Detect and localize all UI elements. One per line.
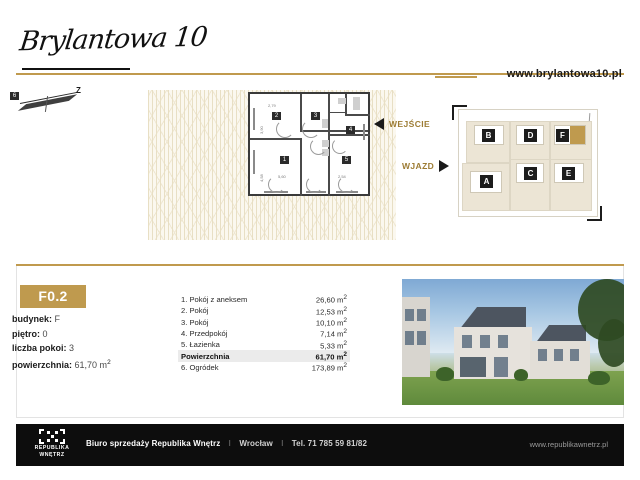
driveway-marker: WJAZD	[402, 160, 449, 172]
spec-value-powierzchnia: 61,70 m	[75, 360, 108, 370]
room-area-sup: 2	[343, 306, 347, 313]
photo-window	[480, 335, 490, 348]
room-area-sup: 2	[343, 328, 347, 335]
wall-segment	[345, 94, 347, 114]
dimension-label: 3,90	[259, 126, 264, 134]
door-swing	[306, 176, 323, 193]
table-row: 6. Ogródek 173,89 m2	[178, 362, 350, 373]
spec-value-budynek: F	[55, 314, 61, 324]
spec-key-liczba-pokoi: liczba pokoi:	[12, 343, 67, 353]
arrow-right-icon	[439, 160, 449, 172]
room-area: 7,14 m2	[320, 328, 347, 339]
total-area-sup: 2	[343, 351, 347, 358]
room-area: 10,10 m2	[316, 317, 347, 328]
room-name: 3. Pokój	[181, 318, 208, 327]
photo-shrub	[514, 369, 528, 381]
site-corner-top-left	[452, 105, 467, 120]
photo-shrub	[588, 371, 610, 385]
dimension-label: 2,54	[338, 174, 346, 179]
table-row: 4. Przedpokój 7,14 m2	[178, 328, 350, 339]
hatch-pattern-lower	[148, 190, 396, 240]
project-website[interactable]: www.brylantowa10.pl	[507, 68, 622, 80]
building-badge-a[interactable]: A	[480, 175, 493, 188]
room-schedule: 1. Pokój z aneksem 26,60 m2 2. Pokój 12,…	[178, 294, 350, 373]
spec-value-liczba-pokoi: 3	[69, 343, 74, 353]
room-name: 6. Ogródek	[181, 363, 219, 372]
sales-office-label: Biuro sprzedaży Republika Wnętrz	[86, 439, 220, 448]
dimension-label: 2,79	[268, 103, 276, 108]
spec-value-pietro: 0	[43, 329, 48, 339]
total-area: 61,70 m2	[316, 351, 348, 362]
company-website[interactable]: www.republikawnetrz.pl	[530, 440, 608, 449]
window-mark	[363, 124, 365, 140]
wall-segment	[328, 94, 330, 132]
table-row: 1. Pokój z aneksem 26,60 m2	[178, 294, 350, 305]
photo-window	[570, 349, 579, 361]
footer-contact: Biuro sprzedaży Republika Wnętrz I Wrocł…	[86, 439, 367, 448]
room-marker-4: 4	[346, 126, 355, 134]
brand-logo: Brylantowa 10	[18, 22, 209, 58]
spec-row-powierzchnia: powierzchnia: 61,70 m2	[12, 356, 111, 373]
logo-line-2: WNĘTRZ	[30, 452, 74, 459]
room-area-sup: 2	[343, 340, 347, 347]
unit-specs: budynek: F piętro: 0 liczba pokoi: 3 pow…	[12, 312, 111, 372]
room-marker-5: 5	[342, 156, 351, 164]
unit-badge: F0.2	[20, 285, 86, 308]
spec-key-pietro: piętro:	[12, 329, 40, 339]
arrow-left-icon	[374, 118, 384, 130]
logo-underline	[22, 68, 130, 70]
document-page: Brylantowa 10 www.brylantowa10.pl Z 6	[0, 0, 640, 480]
wall-segment	[250, 138, 302, 140]
photo-tree	[598, 319, 624, 367]
photo-window	[462, 335, 472, 348]
photo-window	[405, 309, 414, 321]
room-area: 26,60 m2	[316, 294, 347, 305]
total-area-value: 61,70 m	[316, 352, 344, 361]
fixture	[353, 97, 360, 110]
table-row: 5. Łazienka 5,33 m2	[178, 339, 350, 350]
phone-label[interactable]: Tel. 71 785 59 81/82	[292, 439, 367, 448]
entrance-label: WEJŚCIE	[389, 119, 430, 129]
room-name: 5. Łazienka	[181, 340, 220, 349]
room-name: 2. Pokój	[181, 306, 208, 315]
room-area: 173,89 m2	[312, 362, 347, 373]
room-marker-1: 1	[280, 156, 289, 164]
compass-label: Z	[76, 86, 81, 95]
window-mark	[253, 150, 255, 174]
spec-key-budynek: budynek:	[12, 314, 52, 324]
wall-segment	[345, 114, 370, 116]
floorplan-drawing: 1 2 3 4 5 2,79 3,90 4,58 5,60 2,54	[248, 92, 370, 196]
page-header: Brylantowa 10 www.brylantowa10.pl	[0, 0, 640, 88]
page-footer: REPUBLIKA WNĘTRZ Biuro sprzedaży Republi…	[16, 424, 624, 466]
entrance-marker: WEJŚCIE	[374, 118, 430, 130]
room-area-value: 5,33 m	[320, 341, 343, 350]
photo-terrace-door	[460, 357, 486, 377]
company-logo: REPUBLIKA WNĘTRZ	[30, 428, 74, 462]
building-photo	[402, 279, 624, 405]
door-swing	[276, 120, 294, 138]
url-dash	[435, 76, 477, 78]
logo-line-1: REPUBLIKA	[30, 445, 74, 452]
table-row-total: Powierzchnia 61,70 m2	[178, 350, 350, 361]
room-name: 1. Pokój z aneksem	[181, 295, 247, 304]
room-area-value: 10,10 m	[316, 319, 343, 328]
room-area-value: 12,53 m	[316, 307, 343, 316]
dimension-label: 5,60	[278, 174, 286, 179]
building-badge-d[interactable]: D	[524, 129, 537, 142]
photo-window	[494, 357, 508, 377]
total-label: Powierzchnia	[181, 352, 230, 361]
separator-1: I	[223, 439, 237, 448]
building-badge-b[interactable]: B	[482, 129, 495, 142]
site-plan: B D F A C E	[452, 103, 604, 223]
photo-window	[417, 309, 426, 321]
door-swing	[310, 138, 327, 155]
room-area-value: 26,60 m	[316, 296, 343, 305]
spec-unit-sup: 2	[107, 359, 111, 366]
photo-window	[554, 349, 563, 361]
spec-row-liczba-pokoi: liczba pokoi: 3	[12, 341, 111, 356]
room-area: 5,33 m2	[320, 340, 347, 351]
room-area-sup: 2	[343, 362, 347, 369]
photo-window	[498, 335, 508, 348]
table-row: 2. Pokój 12,53 m2	[178, 305, 350, 316]
spec-row-budynek: budynek: F	[12, 312, 111, 327]
shaft	[322, 119, 328, 128]
photo-window	[405, 331, 414, 345]
room-name: 4. Przedpokój	[181, 329, 227, 338]
window-mark	[253, 108, 255, 130]
photo-window	[538, 349, 547, 361]
room-marker-6: 6	[10, 92, 19, 100]
room-marker-2: 2	[272, 112, 281, 120]
fixture	[338, 98, 346, 104]
room-area-sup: 2	[343, 294, 347, 301]
building-badge-f[interactable]: F	[556, 129, 569, 142]
city-label: Wrocław	[239, 439, 272, 448]
spec-row-pietro: piętro: 0	[12, 327, 111, 342]
driveway-label: WJAZD	[402, 161, 434, 171]
spec-key-powierzchnia: powierzchnia:	[12, 360, 72, 370]
highlighted-unit-f	[570, 126, 585, 144]
dimension-label: 4,58	[259, 174, 264, 182]
building-badge-c[interactable]: C	[524, 167, 537, 180]
wall-segment	[328, 112, 347, 113]
door-swing	[302, 120, 320, 138]
room-area-value: 173,89 m	[312, 364, 344, 373]
north-arrow-icon: Z	[18, 86, 90, 120]
wall-segment	[300, 138, 302, 196]
separator-2: I	[275, 439, 289, 448]
room-area-sup: 2	[343, 317, 347, 324]
table-row: 3. Pokój 10,10 m2	[178, 317, 350, 328]
room-marker-3: 3	[311, 112, 320, 120]
room-area-value: 7,14 m	[320, 330, 343, 339]
room-area: 12,53 m2	[316, 306, 347, 317]
photo-shrub	[436, 367, 454, 381]
building-badge-e[interactable]: E	[562, 167, 575, 180]
logo-mark-icon	[39, 429, 65, 444]
photo-window	[417, 331, 426, 345]
door-swing	[332, 138, 348, 154]
